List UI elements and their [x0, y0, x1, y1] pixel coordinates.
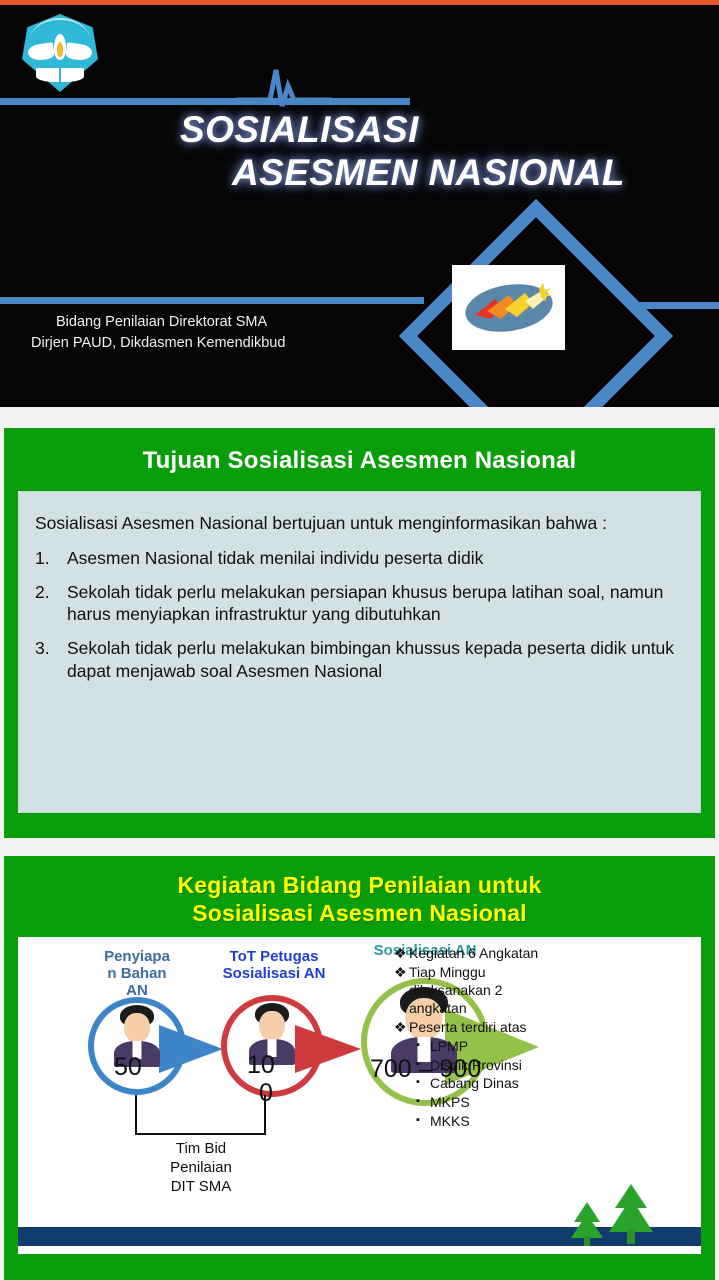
bullet-marker-icon: ❖ — [394, 1019, 409, 1037]
bullet-text: Kegiatan 6 Angkatan — [409, 945, 538, 963]
sub-bullet-marker-icon: ▪ — [416, 1075, 430, 1093]
bracket-label-line-3: DIT SMA — [130, 1177, 272, 1196]
bullet-text: Cabang Dinas — [430, 1075, 519, 1093]
pine-tree-large-graphic — [607, 1184, 655, 1246]
pulse-line-icon — [236, 66, 332, 108]
subtitle-line-2: Dirjen PAUD, Dikdasmen Kemendikbud — [31, 333, 476, 354]
team-bracket — [135, 1095, 266, 1135]
bracket-label-line-2: Penilaian — [130, 1158, 272, 1177]
title-line-2: ASESMEN NASIONAL — [0, 151, 719, 194]
slide3-title-line-1: Kegiatan Bidang Penilaian untuk — [4, 871, 715, 899]
process-diagram: Penyiapa n Bahan AN ToT Petugas Sosialis… — [18, 937, 701, 1254]
list-item-number: 1. — [35, 547, 67, 570]
title-rule-upper — [0, 98, 410, 105]
bracket-label-line-1: Tim Bid — [130, 1139, 272, 1158]
bullet-item: ❖ Tiap Minggu dilaksanakan 2 angkatan — [394, 964, 562, 1018]
title-rule-lower-left — [0, 297, 424, 304]
pine-tree-icon-small — [570, 1202, 604, 1246]
slide2-lead-text: Sosialisasi Asesmen Nasional bertujuan u… — [35, 512, 684, 535]
avatar-face — [259, 1011, 285, 1041]
slide3-bullet-list: ❖ Kegiatan 6 Angkatan ❖ Tiap Minggu dila… — [394, 945, 562, 1132]
pine-tree-icon-large — [607, 1184, 655, 1246]
bullet-sub-item: ▪ Disdik Provinsi — [416, 1057, 562, 1075]
avatar-face — [124, 1013, 150, 1043]
bullet-item: ❖ Peserta terdiri atas — [394, 1019, 562, 1037]
list-item-text: Sekolah tidak perlu melakukan bimbingan … — [67, 637, 684, 683]
bullet-text: LPMP — [430, 1038, 468, 1056]
list-item-number: 2. — [35, 581, 67, 627]
list-item-text: Asesmen Nasional tidak menilai individu … — [67, 547, 684, 570]
logo-flame-inner — [57, 42, 63, 57]
list-item-text: Sekolah tidak perlu melakukan persiapan … — [67, 581, 684, 627]
slide-title: SOSIALISASI ASESMEN NASIONAL Bidang Peni… — [0, 0, 719, 407]
team-bracket-label: Tim Bid Penilaian DIT SMA — [130, 1139, 272, 1197]
sub-bullet-marker-icon: ▪ — [416, 1094, 430, 1112]
slide2-content-box: Sosialisasi Asesmen Nasional bertujuan u… — [18, 491, 701, 813]
slide3-diagram-panel: Penyiapa n Bahan AN ToT Petugas Sosialis… — [18, 937, 701, 1254]
slide2-title: Tujuan Sosialisasi Asesmen Nasional — [4, 428, 715, 475]
bullet-marker-icon: ❖ — [394, 945, 409, 963]
bullet-sub-item: ▪ MKPS — [416, 1094, 562, 1112]
list-item: 2. Sekolah tidak perlu melakukan persiap… — [35, 581, 684, 627]
bullet-sub-item: ▪ Cabang Dinas — [416, 1075, 562, 1093]
bullet-text: Tiap Minggu dilaksanakan 2 angkatan — [409, 964, 562, 1018]
bullet-text: MKKS — [430, 1113, 470, 1131]
tut-wuri-handayani-logo-icon — [22, 14, 98, 92]
slide3-title-line-2: Sosialisasi Asesmen Nasional — [4, 899, 715, 927]
subtitle-line-1: Bidang Penilaian Direktorat SMA — [56, 312, 476, 333]
bullet-marker-icon: ❖ — [394, 964, 409, 1018]
slide-tujuan: Tujuan Sosialisasi Asesmen Nasional Sosi… — [4, 428, 715, 838]
title-line-1: SOSIALISASI — [0, 108, 719, 151]
logo-book — [36, 68, 84, 82]
slide3-title: Kegiatan Bidang Penilaian untuk Sosialis… — [4, 856, 715, 927]
slide-gap-1 — [0, 407, 719, 428]
top-accent-bar — [0, 0, 719, 5]
slide-gap-2 — [0, 838, 719, 856]
title-rule-lower-right — [639, 302, 719, 309]
slide2-numbered-list: 1. Asesmen Nasional tidak menilai indivi… — [35, 547, 684, 683]
slide-kegiatan: Kegiatan Bidang Penilaian untuk Sosialis… — [4, 856, 715, 1280]
bullet-text: Disdik Provinsi — [430, 1057, 522, 1075]
sub-bullet-marker-icon: ▪ — [416, 1038, 430, 1056]
node-value-2: 10 — [247, 1051, 275, 1080]
bullet-sub-item: ▪ LPMP — [416, 1038, 562, 1056]
node-value-1: 50 — [114, 1053, 142, 1082]
bullet-text: Peserta terdiri atas — [409, 1019, 527, 1037]
list-item-number: 3. — [35, 637, 67, 683]
bullet-text: MKPS — [430, 1094, 470, 1112]
list-item: 3. Sekolah tidak perlu melakukan bimbing… — [35, 637, 684, 683]
presenter-subtitle: Bidang Penilaian Direktorat SMA Dirjen P… — [56, 312, 476, 354]
title-block: SOSIALISASI ASESMEN NASIONAL — [0, 108, 719, 195]
pine-tree-small-graphic — [570, 1202, 604, 1246]
bullet-item: ❖ Kegiatan 6 Angkatan — [394, 945, 562, 963]
sub-bullet-marker-icon: ▪ — [416, 1113, 430, 1131]
presentation-page: SOSIALISASI ASESMEN NASIONAL Bidang Peni… — [0, 0, 719, 1280]
sub-bullet-marker-icon: ▪ — [416, 1057, 430, 1075]
bullet-sub-item: ▪ MKKS — [416, 1113, 562, 1131]
list-item: 1. Asesmen Nasional tidak menilai indivi… — [35, 547, 684, 570]
